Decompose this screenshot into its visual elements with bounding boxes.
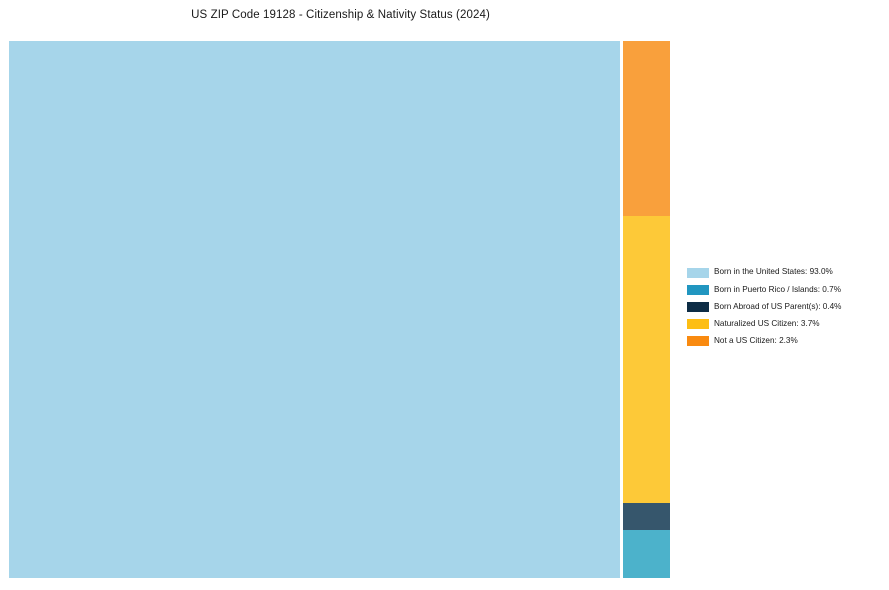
- legend-color-swatch: [687, 336, 709, 346]
- legend-item[interactable]: Born in Puerto Rico / Islands: 0.7%: [687, 281, 887, 298]
- legend-item-label: Naturalized US Citizen: 3.7%: [714, 320, 820, 328]
- legend-item[interactable]: Born Abroad of US Parent(s): 0.4%: [687, 298, 887, 315]
- treemap-tile-born-abroad-of-us-parents[interactable]: [623, 503, 670, 530]
- legend-color-swatch: [687, 319, 709, 329]
- legend-item[interactable]: Not a US Citizen: 2.3%: [687, 333, 887, 350]
- treemap-tile-naturalized-us-citizen[interactable]: [623, 216, 670, 503]
- legend-color-swatch: [687, 302, 709, 312]
- treemap-tile-not-a-us-citizen[interactable]: [623, 41, 670, 216]
- legend-item-label: Born in Puerto Rico / Islands: 0.7%: [714, 286, 841, 294]
- page-title: US ZIP Code 19128 - Citizenship & Nativi…: [0, 9, 681, 21]
- treemap-tile-born-in-the-united-states[interactable]: [9, 41, 620, 578]
- legend-item-label: Born Abroad of US Parent(s): 0.4%: [714, 303, 841, 311]
- treemap-tile-born-in-puerto-rico-islands[interactable]: [623, 530, 670, 578]
- legend-item-label: Not a US Citizen: 2.3%: [714, 337, 798, 345]
- treemap-plot-area: [9, 41, 670, 578]
- legend-item[interactable]: Born in the United States: 93.0%: [687, 264, 887, 281]
- legend-item[interactable]: Naturalized US Citizen: 3.7%: [687, 316, 887, 333]
- legend-color-swatch: [687, 268, 709, 278]
- legend-item-label: Born in the United States: 93.0%: [714, 268, 833, 276]
- chart-legend: Born in the United States: 93.0%Born in …: [687, 264, 887, 350]
- legend-color-swatch: [687, 285, 709, 295]
